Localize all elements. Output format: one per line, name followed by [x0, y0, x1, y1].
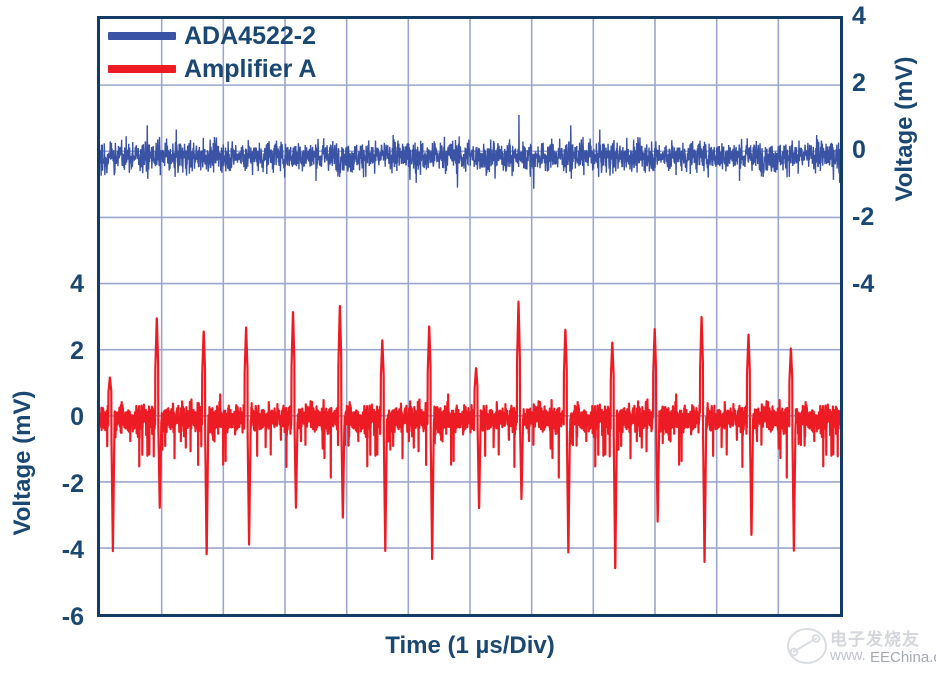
legend: ADA4522-2 Amplifier A [108, 22, 316, 83]
trace-amplifier-a [100, 302, 840, 569]
legend-item-ada4522-2: ADA4522-2 [108, 22, 316, 50]
right-tick-m4: -4 [852, 272, 912, 297]
plot-area [97, 16, 843, 617]
traces [100, 19, 840, 614]
legend-label-amplifier-a: Amplifier A [184, 57, 316, 82]
y-axis-label-left: Voltage (mV) [9, 378, 37, 548]
left-tick-2: 2 [0, 339, 84, 364]
watermark-url-domain: EEChina.com [870, 649, 936, 666]
legend-swatch-red [108, 65, 176, 73]
left-tick-label-2: 2 [0, 339, 84, 364]
left-tick-label-4: 4 [0, 272, 84, 297]
trace-ada4522-2 [100, 115, 840, 189]
y-axis-label-right: Voltage (mV) [891, 44, 919, 214]
legend-item-amplifier-a: Amplifier A [108, 55, 316, 83]
right-tick-label-m4: -4 [852, 272, 912, 297]
right-tick-4: 4 [852, 4, 912, 29]
legend-label-ada4522-2: ADA4522-2 [184, 24, 316, 49]
right-tick-label-4: 4 [852, 4, 912, 29]
chart-figure: ADA4522-2 Amplifier A 4 2 0 -2 -4 -6 4 2… [0, 0, 936, 673]
legend-swatch-blue [108, 32, 176, 40]
x-axis-label: Time (1 µs/Div) [97, 632, 843, 660]
left-tick-label-m6: -6 [0, 605, 84, 630]
left-tick-m6: -6 [0, 605, 84, 630]
left-tick-4: 4 [0, 272, 84, 297]
watermark-cn-text: 电子发烧友 [830, 625, 920, 650]
